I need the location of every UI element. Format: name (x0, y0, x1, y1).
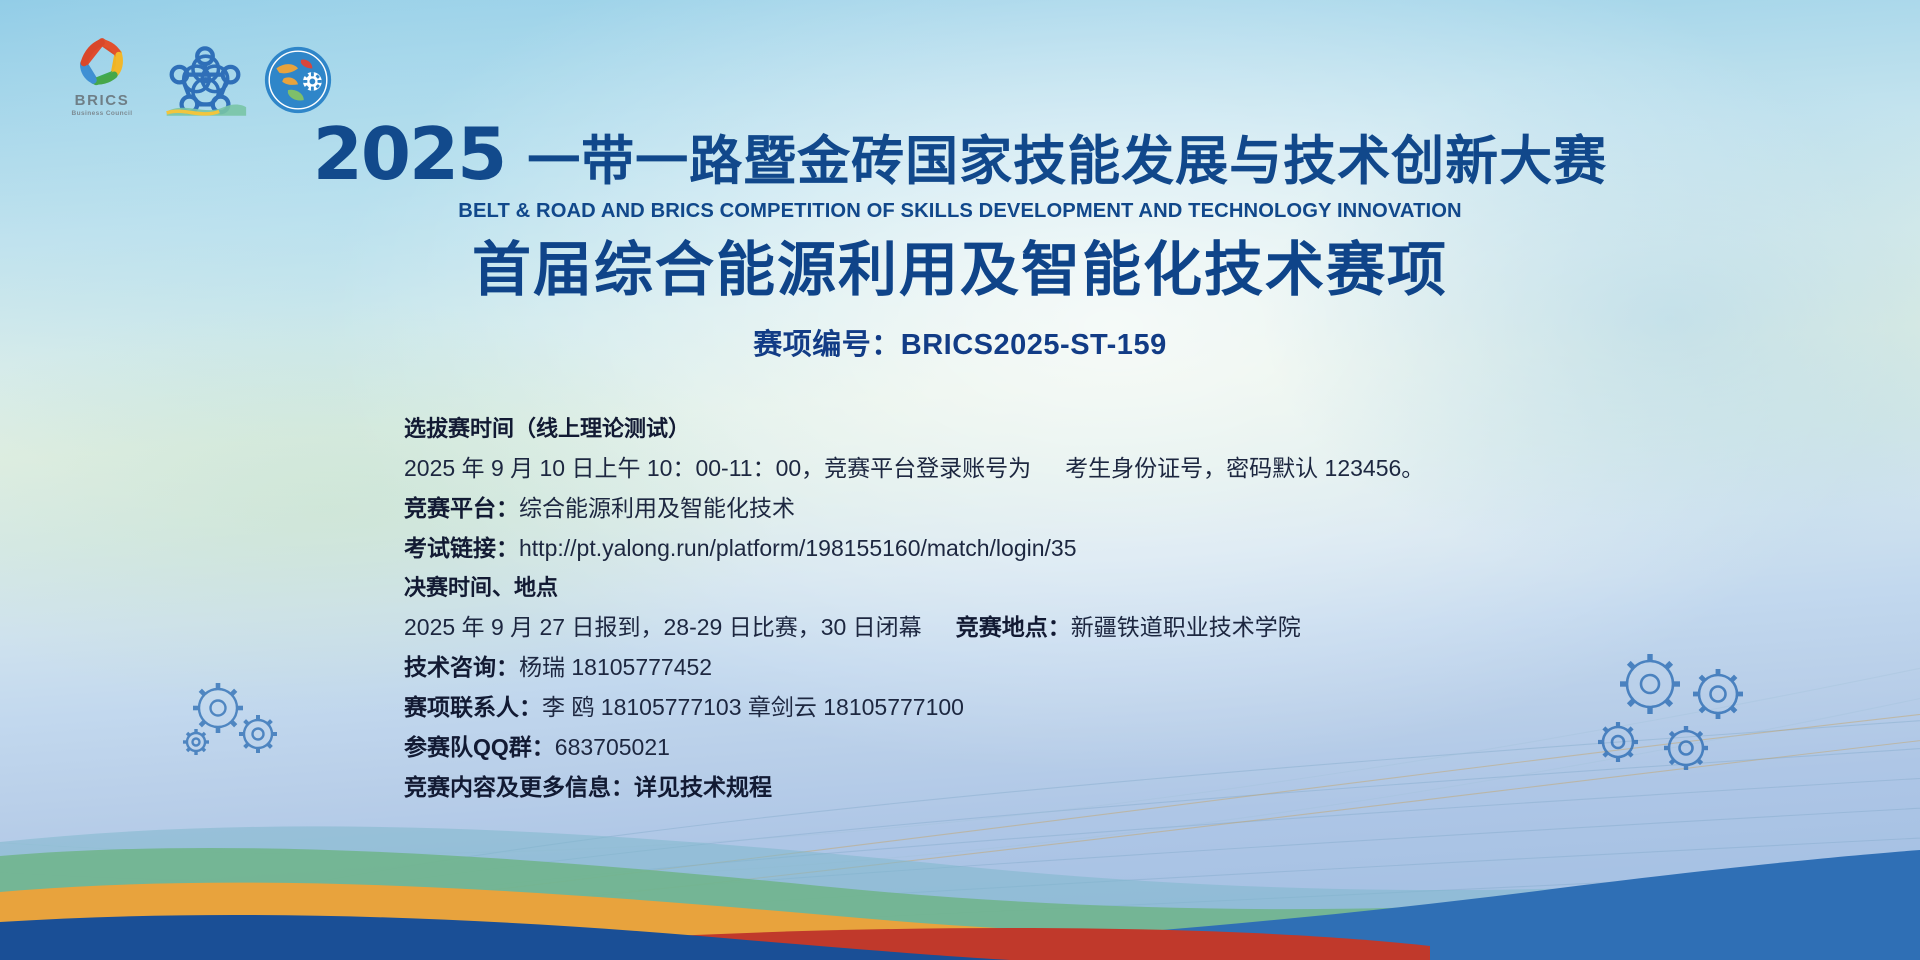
competition-title-en: BELT & ROAD AND BRICS COMPETITION OF SKI… (14, 199, 1905, 223)
exam-link-line: 考试链接：http://pt.yalong.run/platform/19815… (404, 537, 1424, 560)
platform-value: 综合能源利用及智能化技术 (519, 495, 795, 521)
more-info-line: 竞赛内容及更多信息：详见技术规程 (404, 776, 1424, 799)
more-info-label: 竞赛内容及更多信息： (404, 774, 634, 800)
skills-emblem-icon (162, 42, 248, 120)
gear-cluster-left-icon (180, 678, 300, 764)
platform-label: 竞赛平台： (404, 495, 519, 521)
tech-support-label: 技术咨询： (404, 654, 519, 680)
brics-business-council-logo: BRICS Business Council (56, 36, 148, 117)
brics-wordmark: BRICS (56, 93, 148, 109)
more-info-value: 详见技术规程 (634, 774, 772, 800)
info-block: 选拔赛时间（线上理论测试） 2025 年 9 月 10 日上午 10：00-11… (404, 418, 1424, 799)
competition-title-cn: 一带一路暨金砖国家技能发展与技术创新大赛 (527, 135, 1607, 188)
tech-support-line: 技术咨询：杨瑞 18105777452 (404, 656, 1424, 679)
selection-heading-text: 选拔赛时间（线上理论测试） (404, 416, 690, 441)
globe-emblem-icon (262, 44, 334, 116)
logo-row: BRICS Business Council (56, 36, 340, 125)
venue-value: 新疆铁道职业技术学院 (1071, 614, 1301, 640)
competition-poster: BRICS Business Council (0, 0, 1920, 960)
venue-label: 竞赛地点： (956, 614, 1071, 640)
contacts-value: 李 鸥 18105777103 章剑云 18105777100 (542, 694, 964, 720)
final-detail: 2025 年 9 月 27 日报到，28-29 日比赛，30 日闭幕 (404, 614, 922, 640)
final-heading-text: 决赛时间、地点 (404, 575, 558, 600)
final-detail-line: 2025 年 9 月 27 日报到，28-29 日比赛，30 日闭幕竞赛地点：新… (404, 616, 1424, 639)
contacts-label: 赛项联系人： (404, 694, 542, 720)
globe-emblem-logo (262, 44, 340, 121)
selection-heading: 选拔赛时间（线上理论测试） (404, 418, 1424, 440)
exam-link-value[interactable]: http://pt.yalong.run/platform/198155160/… (519, 535, 1076, 561)
qq-group-line: 参赛队QQ群：683705021 (404, 736, 1424, 759)
selection-detail: 2025 年 9 月 10 日上午 10：00-11：00，竞赛平台登录账号为考… (404, 457, 1424, 480)
skills-emblem-logo (162, 42, 248, 125)
qq-group-label: 参赛队QQ群： (404, 734, 555, 760)
headline-row: 2025 一带一路暨金砖国家技能发展与技术创新大赛 (0, 118, 1920, 190)
selection-detail-b: 考生身份证号，密码默认 123456。 (1065, 455, 1424, 481)
platform-line: 竞赛平台：综合能源利用及智能化技术 (404, 497, 1424, 520)
qq-group-value: 683705021 (555, 734, 670, 760)
brics-subwordmark: Business Council (56, 110, 148, 117)
brics-star-icon (73, 36, 131, 92)
tech-support-value: 杨瑞 18105777452 (519, 654, 712, 680)
gear-cluster-right-icon (1590, 650, 1780, 780)
final-heading: 决赛时间、地点 (404, 577, 1424, 599)
title-block: 2025 一带一路暨金砖国家技能发展与技术创新大赛 BELT & ROAD AN… (0, 118, 1920, 363)
selection-detail-a: 2025 年 9 月 10 日上午 10：00-11：00，竞赛平台登录账号为 (404, 455, 1031, 481)
exam-link-label: 考试链接： (404, 535, 519, 561)
event-code-value: BRICS2025-ST-159 (901, 329, 1167, 361)
event-code: 赛项编号：BRICS2025-ST-159 (0, 321, 1920, 363)
event-title-cn: 首届综合能源利用及智能化技术赛项 (0, 239, 1920, 303)
event-code-label: 赛项编号： (753, 329, 901, 361)
contacts-line: 赛项联系人：李 鸥 18105777103 章剑云 18105777100 (404, 696, 1424, 719)
year-label: 2025 (313, 118, 505, 190)
